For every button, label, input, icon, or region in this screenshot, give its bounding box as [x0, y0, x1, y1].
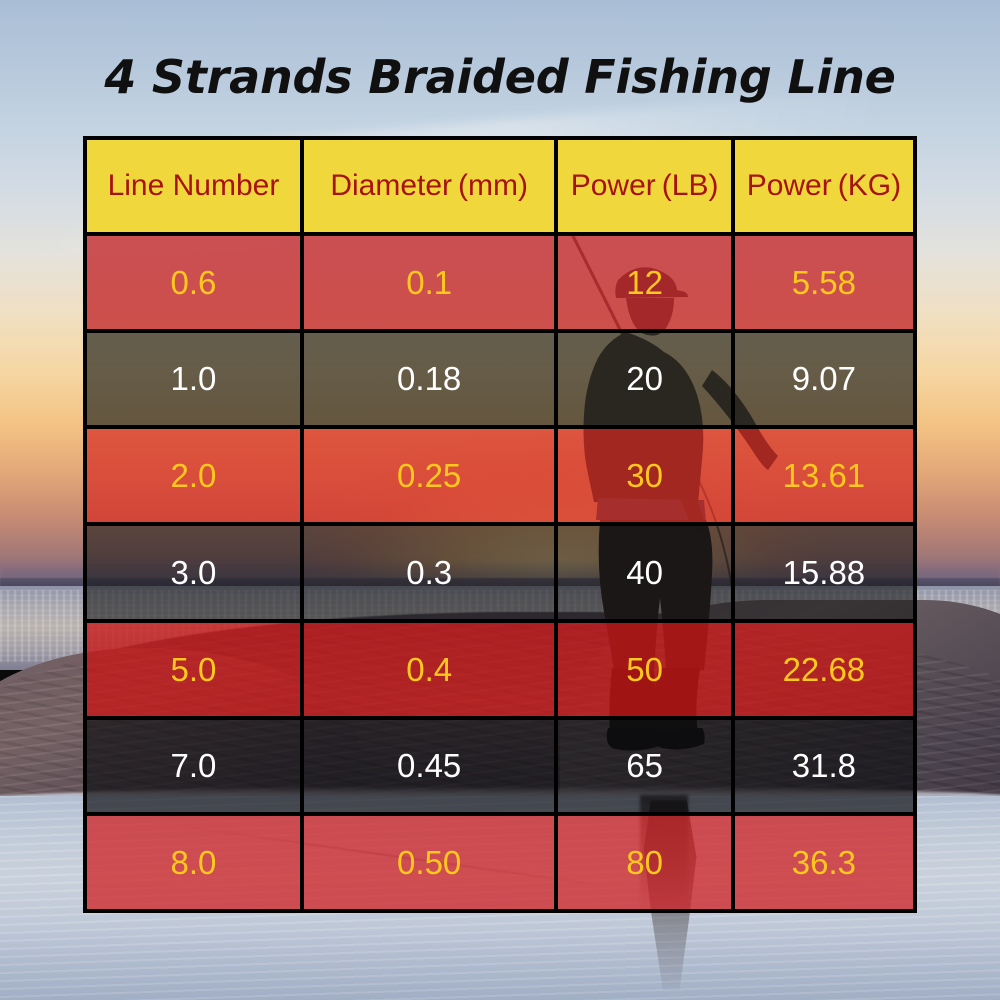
cell-line-number: 8.0 [87, 816, 300, 909]
table-row: 0.6 0.1 12 5.58 [87, 232, 913, 329]
cell-power-lb: 50 [554, 623, 730, 716]
cell-power-kg: 22.68 [731, 623, 913, 716]
cell-diameter: 0.18 [300, 333, 555, 426]
cell-line-number: 5.0 [87, 623, 300, 716]
cell-line-number: 7.0 [87, 720, 300, 813]
cell-power-lb: 40 [554, 526, 730, 619]
table-row: 2.0 0.25 30 13.61 [87, 425, 913, 522]
cell-diameter: 0.1 [300, 236, 555, 329]
cell-power-kg: 36.3 [731, 816, 913, 909]
cell-power-kg: 13.61 [731, 429, 913, 522]
cell-power-lb: 65 [554, 720, 730, 813]
column-header-power-kg: Power (KG) [731, 140, 913, 232]
page-title: 4 Strands Braided Fishing Line [0, 50, 1000, 104]
cell-diameter: 0.50 [300, 816, 555, 909]
cell-diameter: 0.45 [300, 720, 555, 813]
table-row: 1.0 0.18 20 9.07 [87, 329, 913, 426]
cell-power-lb: 80 [554, 816, 730, 909]
cell-diameter: 0.3 [300, 526, 555, 619]
cell-power-kg: 15.88 [731, 526, 913, 619]
cell-line-number: 2.0 [87, 429, 300, 522]
product-infographic: 4 Strands Braided Fishing Line Line Numb… [0, 0, 1000, 1000]
table-row: 8.0 0.50 80 36.3 [87, 812, 913, 909]
cell-power-lb: 20 [554, 333, 730, 426]
cell-line-number: 3.0 [87, 526, 300, 619]
cell-power-kg: 5.58 [731, 236, 913, 329]
cell-diameter: 0.25 [300, 429, 555, 522]
cell-power-lb: 12 [554, 236, 730, 329]
cell-power-kg: 31.8 [731, 720, 913, 813]
table-row: 3.0 0.3 40 15.88 [87, 522, 913, 619]
table-row: 7.0 0.45 65 31.8 [87, 716, 913, 813]
cell-line-number: 1.0 [87, 333, 300, 426]
cell-line-number: 0.6 [87, 236, 300, 329]
column-header-line-number: Line Number [87, 140, 300, 232]
specification-table: Line Number Diameter (mm) Power (LB) Pow… [83, 136, 917, 913]
cell-power-kg: 9.07 [731, 333, 913, 426]
table-header-row: Line Number Diameter (mm) Power (LB) Pow… [87, 140, 913, 232]
column-header-diameter: Diameter (mm) [300, 140, 555, 232]
cell-power-lb: 30 [554, 429, 730, 522]
column-header-power-lb: Power (LB) [554, 140, 730, 232]
table-row: 5.0 0.4 50 22.68 [87, 619, 913, 716]
cell-diameter: 0.4 [300, 623, 555, 716]
